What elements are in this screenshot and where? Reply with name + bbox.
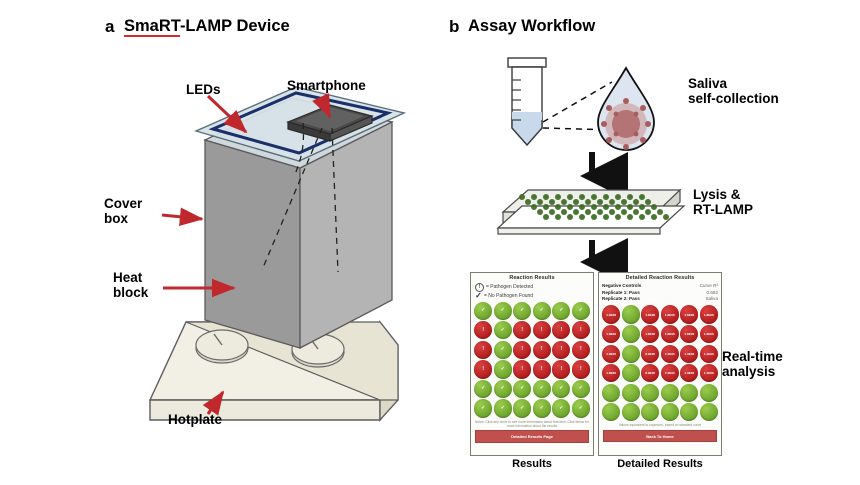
app-detailed-title: Detailed Reaction Results bbox=[599, 275, 721, 281]
app-results-legend: ! = Pathogen Detected ✓ = No Pathogen Fo… bbox=[475, 283, 589, 300]
detailed-well-r1-c5[interactable]: 1.8E06 bbox=[680, 305, 698, 323]
detailed-well-r6-c3[interactable] bbox=[641, 403, 659, 421]
result-well-r6-c2[interactable]: ✓ bbox=[494, 399, 512, 417]
control-row-2: Replicate 1: Pass0.682 bbox=[602, 290, 718, 297]
workflow-illustration bbox=[0, 0, 860, 485]
detailed-well-r4-c4[interactable]: 7.2E05 bbox=[661, 364, 679, 382]
microplate bbox=[498, 190, 684, 234]
alert-icon: ! bbox=[580, 347, 582, 352]
result-well-r1-c1[interactable]: ✓ bbox=[474, 302, 492, 320]
check-icon: ✓ bbox=[501, 367, 505, 372]
alert-icon: ! bbox=[560, 328, 562, 333]
collection-tube bbox=[508, 58, 546, 145]
caption-results: Results bbox=[470, 458, 594, 470]
detailed-results-page-button[interactable]: Detailed Results Page bbox=[475, 430, 589, 442]
check-icon: ✓ bbox=[579, 308, 583, 313]
control-value-1: Curve R² bbox=[700, 283, 718, 290]
detailed-well-r2-c2[interactable] bbox=[622, 325, 640, 343]
check-icon: ✓ bbox=[501, 406, 505, 411]
check-icon: ✓ bbox=[481, 308, 485, 313]
detailed-well-r5-c2[interactable] bbox=[622, 384, 640, 402]
detailed-well-r5-c5[interactable] bbox=[680, 384, 698, 402]
result-well-r1-c4[interactable]: ✓ bbox=[533, 302, 551, 320]
control-label-3: Replicate 2: Pass bbox=[602, 296, 640, 303]
result-well-r4-c2[interactable]: ✓ bbox=[494, 360, 512, 378]
alert-icon: ! bbox=[541, 328, 543, 333]
detailed-well-r1-c4[interactable]: 1.8E06 bbox=[661, 305, 679, 323]
result-well-r6-c3[interactable]: ✓ bbox=[513, 399, 531, 417]
alert-icon: ! bbox=[482, 367, 484, 372]
alert-icon: ! bbox=[560, 347, 562, 352]
check-icon: ✓ bbox=[559, 308, 563, 313]
figure-canvas: a SmaRT-LAMP Device bbox=[0, 0, 860, 485]
check-icon: ✓ bbox=[579, 386, 583, 391]
label-saliva-self-collection: Saliva self-collection bbox=[688, 76, 779, 106]
check-icon: ✓ bbox=[501, 386, 505, 391]
result-well-r3-c2[interactable]: ✓ bbox=[494, 341, 512, 359]
result-well-r6-c5[interactable]: ✓ bbox=[552, 399, 570, 417]
detailed-well-r4-c1[interactable]: 1.8E05 bbox=[602, 364, 620, 382]
label-real-time-analysis: Real-time analysis bbox=[722, 349, 783, 379]
detailed-well-r6-c6[interactable] bbox=[700, 403, 718, 421]
legend-text-detected: = Pathogen Detected bbox=[486, 284, 533, 290]
result-well-r1-c6[interactable]: ✓ bbox=[572, 302, 590, 320]
detailed-well-r6-c2[interactable] bbox=[622, 403, 640, 421]
result-well-r2-c2[interactable]: ✓ bbox=[494, 321, 512, 339]
result-well-r4-c1[interactable]: ! bbox=[474, 360, 492, 378]
result-well-r4-c5[interactable]: ! bbox=[552, 360, 570, 378]
detailed-well-r2-c1[interactable]: 1.8E06 bbox=[602, 325, 620, 343]
alert-icon: ! bbox=[580, 328, 582, 333]
back-to-home-button[interactable]: Back To Home bbox=[603, 430, 717, 442]
detailed-well-r3-c5[interactable]: 1.3E06 bbox=[680, 345, 698, 363]
check-icon: ✓ bbox=[540, 308, 544, 313]
check-icon: ✓ bbox=[501, 308, 505, 313]
detailed-well-grid[interactable]: 1.8E061.8E061.8E061.8E061.8E061.8E061.8E… bbox=[602, 305, 718, 421]
detailed-well-r6-c5[interactable] bbox=[680, 403, 698, 421]
result-well-r2-c4[interactable]: ! bbox=[533, 321, 551, 339]
control-label-2: Replicate 1: Pass bbox=[602, 290, 640, 297]
result-well-r6-c6[interactable]: ✓ bbox=[572, 399, 590, 417]
alert-icon: ! bbox=[541, 347, 543, 352]
detailed-well-r4-c2[interactable] bbox=[622, 364, 640, 382]
alert-icon: ! bbox=[541, 367, 543, 372]
result-well-r3-c3[interactable]: ! bbox=[513, 341, 531, 359]
app-results-note: Notes: Click any circle to see more info… bbox=[474, 420, 590, 429]
result-well-r5-c1[interactable]: ✓ bbox=[474, 380, 492, 398]
check-icon: ✓ bbox=[520, 406, 524, 411]
result-well-r1-c2[interactable]: ✓ bbox=[494, 302, 512, 320]
result-well-r3-c5[interactable]: ! bbox=[552, 341, 570, 359]
label-lysis-rt-lamp: Lysis & RT-LAMP bbox=[693, 187, 753, 217]
detailed-well-r2-c5[interactable]: 1.8E06 bbox=[680, 325, 698, 343]
legend-row-clear: ✓ = No Pathogen Found bbox=[475, 292, 589, 299]
check-icon: ✓ bbox=[559, 406, 563, 411]
result-well-r2-c3[interactable]: ! bbox=[513, 321, 531, 339]
detailed-well-r5-c3[interactable] bbox=[641, 384, 659, 402]
app-detailed-screen[interactable]: Detailed Reaction Results Negative Contr… bbox=[598, 272, 722, 456]
check-icon: ✓ bbox=[520, 308, 524, 313]
detailed-well-r3-c2[interactable] bbox=[622, 345, 640, 363]
detailed-well-r3-c3[interactable]: 8.9E05 bbox=[641, 345, 659, 363]
results-well-grid[interactable]: ✓✓✓✓✓✓!✓!!!!!✓!!!!!✓!!!!✓✓✓✓✓✓✓✓✓✓✓✓ bbox=[474, 302, 590, 418]
saliva-droplet bbox=[598, 68, 654, 150]
detailed-well-r1-c2[interactable] bbox=[622, 305, 640, 323]
app-results-title: Reaction Results bbox=[471, 275, 593, 281]
result-well-r6-c1[interactable]: ✓ bbox=[474, 399, 492, 417]
detailed-well-r3-c6[interactable]: 1.1E06 bbox=[700, 345, 718, 363]
detailed-well-r1-c6[interactable]: 1.8E06 bbox=[700, 305, 718, 323]
detailed-well-r1-c3[interactable]: 1.8E06 bbox=[641, 305, 659, 323]
detailed-well-r3-c4[interactable]: 7.2E05 bbox=[661, 345, 679, 363]
result-well-r5-c4[interactable]: ✓ bbox=[533, 380, 551, 398]
result-well-r2-c1[interactable]: ! bbox=[474, 321, 492, 339]
result-well-r4-c6[interactable]: ! bbox=[572, 360, 590, 378]
result-well-r5-c6[interactable]: ✓ bbox=[572, 380, 590, 398]
result-well-r5-c3[interactable]: ✓ bbox=[513, 380, 531, 398]
check-icon: ✓ bbox=[481, 386, 485, 391]
detailed-well-r2-c3[interactable]: 1.8E06 bbox=[641, 325, 659, 343]
detailed-well-r5-c4[interactable] bbox=[661, 384, 679, 402]
detailed-well-r3-c1[interactable]: 1.8E05 bbox=[602, 345, 620, 363]
detailed-well-r6-c1[interactable] bbox=[602, 403, 620, 421]
caption-detailed-results: Detailed Results bbox=[598, 458, 722, 470]
detailed-well-r4-c3[interactable]: 8.9E05 bbox=[641, 364, 659, 382]
alert-icon: ! bbox=[482, 347, 484, 352]
result-well-r3-c1[interactable]: ! bbox=[474, 341, 492, 359]
check-icon: ✓ bbox=[501, 347, 505, 352]
detailed-well-r1-c1[interactable]: 1.8E06 bbox=[602, 305, 620, 323]
alert-icon: ! bbox=[521, 328, 523, 333]
detailed-well-r5-c1[interactable] bbox=[602, 384, 620, 402]
alert-icon: ! bbox=[560, 367, 562, 372]
negative-controls-table: Negative ControlsCurve R²Replicate 1: Pa… bbox=[602, 283, 718, 303]
alert-icon: ! bbox=[521, 367, 523, 372]
check-icon: ✓ bbox=[540, 386, 544, 391]
check-icon: ✓ bbox=[540, 406, 544, 411]
control-row-3: Replicate 2: PassSaliva bbox=[602, 296, 718, 303]
result-well-r5-c5[interactable]: ✓ bbox=[552, 380, 570, 398]
result-well-r2-c5[interactable]: ! bbox=[552, 321, 570, 339]
legend-text-clear: = No Pathogen Found bbox=[484, 293, 533, 299]
control-value-3: Saliva bbox=[705, 296, 718, 303]
control-row-1: Negative ControlsCurve R² bbox=[602, 283, 718, 290]
result-well-r2-c6[interactable]: ! bbox=[572, 321, 590, 339]
alert-icon: ! bbox=[580, 367, 582, 372]
check-icon: ✓ bbox=[481, 406, 485, 411]
check-icon: ✓ bbox=[501, 328, 505, 333]
result-well-r4-c3[interactable]: ! bbox=[513, 360, 531, 378]
result-well-r3-c4[interactable]: ! bbox=[533, 341, 551, 359]
check-icon: ✓ bbox=[520, 386, 524, 391]
check-icon: ✓ bbox=[579, 406, 583, 411]
alert-icon: ! bbox=[521, 347, 523, 352]
result-well-r5-c2[interactable]: ✓ bbox=[494, 380, 512, 398]
detailed-well-r5-c6[interactable] bbox=[700, 384, 718, 402]
detailed-well-r2-c4[interactable]: 1.8E06 bbox=[661, 325, 679, 343]
check-icon: ✓ bbox=[475, 292, 482, 299]
detailed-well-r4-c5[interactable]: 1.3E06 bbox=[680, 364, 698, 382]
detailed-well-r6-c4[interactable] bbox=[661, 403, 679, 421]
app-detailed-note: Values equivalent to copies/mL based on … bbox=[602, 423, 718, 427]
control-label-1: Negative Controls bbox=[602, 283, 641, 290]
control-value-2: 0.682 bbox=[707, 290, 719, 297]
detailed-well-r4-c6[interactable]: 1.1E06 bbox=[700, 364, 718, 382]
legend-row-detected: ! = Pathogen Detected bbox=[475, 283, 589, 292]
result-well-r1-c5[interactable]: ✓ bbox=[552, 302, 570, 320]
result-well-r3-c6[interactable]: ! bbox=[572, 341, 590, 359]
check-icon: ✓ bbox=[559, 386, 563, 391]
result-well-r1-c3[interactable]: ✓ bbox=[513, 302, 531, 320]
alert-icon: ! bbox=[482, 328, 484, 333]
result-well-r6-c4[interactable]: ✓ bbox=[533, 399, 551, 417]
result-well-r4-c4[interactable]: ! bbox=[533, 360, 551, 378]
detailed-well-r2-c6[interactable]: 1.8E06 bbox=[700, 325, 718, 343]
app-results-screen[interactable]: Reaction Results ! = Pathogen Detected ✓… bbox=[470, 272, 594, 456]
